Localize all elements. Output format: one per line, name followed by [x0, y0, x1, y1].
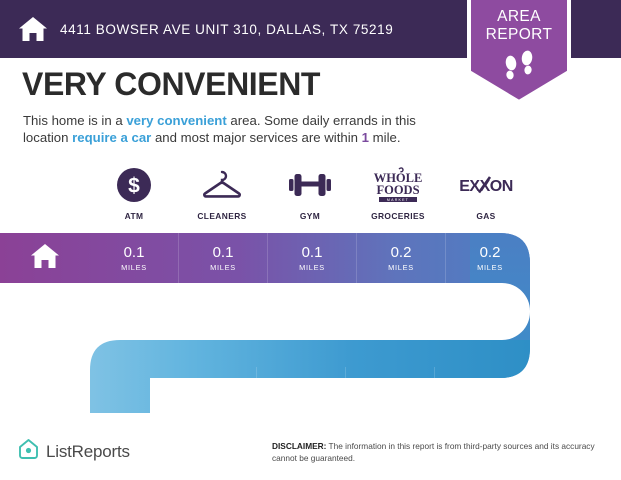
subtitle-part-4: mile. [369, 130, 401, 145]
area-report-infographic: 4411 BOWSER AVE UNIT 310, DALLAS, TX 752… [0, 0, 621, 480]
svg-text:MARKET: MARKET [387, 198, 409, 202]
header-content: 4411 BOWSER AVE UNIT 310, DALLAS, TX 752… [18, 0, 393, 58]
listreports-logo-text: ListReports [46, 442, 130, 462]
subtitle-highlight-car: require a car [72, 130, 151, 145]
category-label: GYM [300, 211, 320, 221]
listreports-logo: ListReports [18, 438, 130, 465]
distance-cell-coffee: 0.3 MILES [257, 367, 345, 417]
distance-cell-atm: 0.1 MILES [90, 233, 178, 283]
badge-label: AREA REPORT [466, 8, 572, 44]
property-address: 4411 BOWSER AVE UNIT 310, DALLAS, TX 752… [60, 22, 393, 37]
subtitle-highlight-miles: 1 [362, 130, 369, 145]
distance-unit: MILES [288, 397, 314, 406]
category-label: CLEANERS [197, 211, 246, 221]
distance-value: 0.1 [124, 245, 145, 261]
category-label: GROCERIES [371, 211, 425, 221]
subtitle-part-3: and most major services are within [151, 130, 361, 145]
distance-value: 0.2 [480, 245, 501, 261]
distance-value: 0.2 [469, 379, 490, 395]
home-icon [30, 242, 60, 275]
distance-value: 0.2 [391, 245, 412, 261]
hanger-icon [201, 165, 243, 205]
distance-cell-gas: 0.2 MILES [446, 233, 534, 283]
distance-unit: MILES [210, 263, 236, 272]
distance-cell-movie-theater: 1.1 MILES [168, 367, 256, 417]
distance-cell-pharmacy: 0.2 MILES [435, 367, 523, 417]
category-cleaners: CLEANERS [178, 165, 266, 221]
category-groceries: WHOLE FOODS MARKET GROCERIES [354, 165, 442, 221]
distance-value: 0.3 [291, 379, 312, 395]
badge-line-1: AREA [466, 8, 572, 26]
area-report-badge: AREA REPORT [466, 0, 572, 106]
distance-cell-cleaners: 0.1 MILES [179, 233, 267, 283]
disclaimer: DISCLAIMER: The information in this repo… [272, 441, 602, 464]
distance-values-row-2: 1.1 MILES 0.3 MILES 0.3 MILES 0.2 MILES [168, 367, 523, 417]
category-icon-row-1: $ ATM CLEANERS [90, 165, 530, 221]
distance-value: 0.3 [380, 379, 401, 395]
subtitle-part-1: This home is in a [23, 113, 126, 128]
distance-value: 1.1 [202, 379, 223, 395]
subtitle-highlight-convenience: very convenient [126, 113, 226, 128]
distance-unit: MILES [299, 263, 325, 272]
category-gym: GYM [266, 165, 354, 221]
category-label: ATM [125, 211, 144, 221]
category-atm: $ ATM [90, 165, 178, 221]
page-title: VERY CONVENIENT [22, 66, 320, 103]
page-subtitle: This home is in a very convenient area. … [23, 112, 443, 146]
distance-unit: MILES [377, 397, 403, 406]
svg-text:FOODS: FOODS [376, 183, 419, 197]
distance-value: 0.1 [213, 245, 234, 261]
distance-unit: MILES [466, 397, 492, 406]
whole-foods-icon: WHOLE FOODS MARKET [372, 165, 424, 205]
disclaimer-label: DISCLAIMER: [272, 441, 326, 451]
distance-unit: MILES [199, 397, 225, 406]
distance-unit: MILES [388, 263, 414, 272]
distance-values-row-1: 0.1 MILES 0.1 MILES 0.1 MILES 0.2 MILES … [90, 233, 534, 283]
distance-unit: MILES [121, 263, 147, 272]
row1-home-icon-cell [0, 233, 90, 283]
badge-line-2: REPORT [466, 26, 572, 44]
home-icon [18, 15, 48, 43]
atm-dollar-icon: $ [117, 165, 151, 205]
distance-cell-gym: 0.1 MILES [268, 233, 356, 283]
category-gas: EXXON GAS [442, 165, 530, 221]
category-label: GAS [476, 211, 495, 221]
svg-text:$: $ [128, 175, 140, 198]
listreports-house-icon [18, 438, 39, 465]
distance-cell-groceries: 0.2 MILES [357, 233, 445, 283]
distance-cell-medical: 0.3 MILES [346, 367, 434, 417]
distance-value: 0.1 [302, 245, 323, 261]
dumbbell-icon [288, 165, 332, 205]
distance-unit: MILES [477, 263, 503, 272]
exxon-icon: EXXON [459, 165, 513, 205]
